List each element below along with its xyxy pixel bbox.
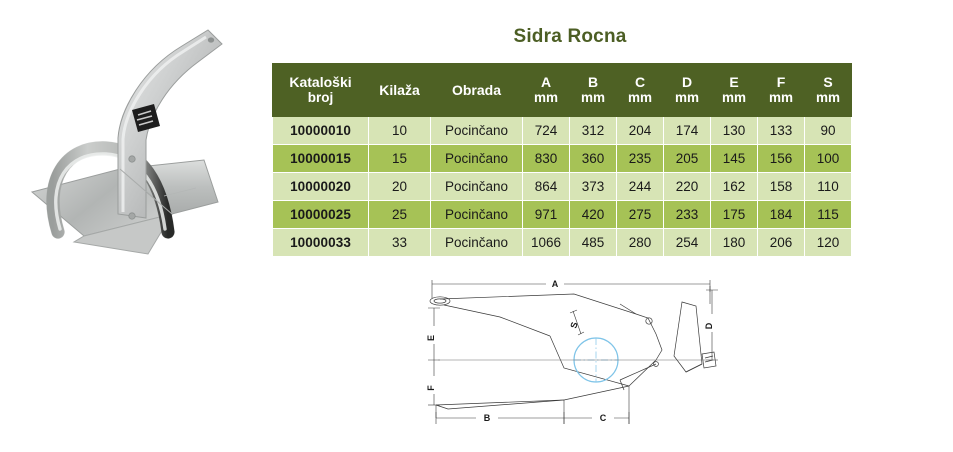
column-header-f-label: F: [759, 74, 803, 90]
cell-b: 485: [570, 229, 617, 257]
dim-label-b: B: [484, 413, 491, 423]
column-header-finish-label: Obrada: [432, 82, 521, 98]
product-photo: [22, 18, 270, 262]
cell-weight: 20: [369, 173, 431, 201]
table-row[interactable]: 10000020 20 Pocinčano 864 373 244 220 16…: [273, 173, 852, 201]
cell-s: 120: [805, 229, 852, 257]
cell-f: 184: [758, 201, 805, 229]
cell-a: 1066: [523, 229, 570, 257]
column-header-e-unit: mm: [712, 90, 756, 106]
cell-e: 175: [711, 201, 758, 229]
crown-hole: [646, 318, 652, 324]
spec-table-container: Kataloški broj Kilaža Obrada A mm B mm: [272, 63, 852, 257]
column-header-b: B mm: [570, 64, 617, 117]
column-header-b-label: B: [571, 74, 615, 90]
cell-a: 724: [523, 117, 570, 145]
column-header-catalog-line2: broj: [274, 90, 367, 106]
cell-d: 254: [664, 229, 711, 257]
table-row[interactable]: 10000010 10 Pocinčano 724 312 204 174 13…: [273, 117, 852, 145]
cell-weight: 15: [369, 145, 431, 173]
column-header-b-unit: mm: [571, 90, 615, 106]
dim-label-c: C: [600, 413, 607, 423]
shank-top-edge: [440, 294, 636, 314]
cell-finish: Pocinčano: [431, 229, 523, 257]
cell-s: 90: [805, 117, 852, 145]
fluke-edge-small: [620, 380, 624, 390]
cell-f: 206: [758, 229, 805, 257]
cell-c: 280: [617, 229, 664, 257]
column-header-d: D mm: [664, 64, 711, 117]
table-header: Kataloški broj Kilaža Obrada A mm B mm: [273, 64, 852, 117]
shackle-eye-outer: [430, 297, 450, 305]
cell-s: 100: [805, 145, 852, 173]
column-header-catalog: Kataloški broj: [273, 64, 369, 117]
cell-finish: Pocinčano: [431, 145, 523, 173]
cell-finish: Pocinčano: [431, 201, 523, 229]
shank-eye-hole: [208, 37, 214, 42]
cell-d: 220: [664, 173, 711, 201]
column-header-c: C mm: [617, 64, 664, 117]
cell-catalog: 10000010: [273, 117, 369, 145]
cell-b: 373: [570, 173, 617, 201]
cell-b: 420: [570, 201, 617, 229]
cell-d: 174: [664, 117, 711, 145]
dim-ext-a-legs: [432, 286, 710, 304]
cell-c: 235: [617, 145, 664, 173]
cell-weight: 33: [369, 229, 431, 257]
cell-a: 864: [523, 173, 570, 201]
page-title: Sidra Rocna: [430, 26, 710, 48]
column-header-s-label: S: [806, 74, 850, 90]
cell-a: 971: [523, 201, 570, 229]
dim-label-d: D: [704, 322, 714, 329]
cell-weight: 25: [369, 201, 431, 229]
dim-label-e: E: [426, 335, 436, 341]
cell-catalog: 10000015: [273, 145, 369, 173]
table-body: 10000010 10 Pocinčano 724 312 204 174 13…: [273, 117, 852, 257]
column-header-c-unit: mm: [618, 90, 662, 106]
cell-f: 133: [758, 117, 805, 145]
cell-e: 145: [711, 145, 758, 173]
rivet-upper: [129, 156, 135, 162]
cell-e: 180: [711, 229, 758, 257]
column-header-e: E mm: [711, 64, 758, 117]
dim-label-f: F: [426, 385, 436, 391]
dim-ext-a: [432, 280, 710, 292]
fluke-upper-edge: [550, 336, 629, 386]
cell-e: 130: [711, 117, 758, 145]
column-header-f-unit: mm: [759, 90, 803, 106]
crown-top-link: [620, 304, 636, 314]
column-header-c-label: C: [618, 74, 662, 90]
column-header-weight: Kilaža: [369, 64, 431, 117]
column-header-s-unit: mm: [806, 90, 850, 106]
cell-f: 158: [758, 173, 805, 201]
cell-d: 233: [664, 201, 711, 229]
crown-outline: [636, 314, 662, 360]
cell-finish: Pocinčano: [431, 117, 523, 145]
cell-c: 244: [617, 173, 664, 201]
rivet-lower: [129, 213, 135, 219]
cell-weight: 10: [369, 117, 431, 145]
cell-s: 110: [805, 173, 852, 201]
cell-d: 205: [664, 145, 711, 173]
cell-catalog: 10000025: [273, 201, 369, 229]
cell-e: 162: [711, 173, 758, 201]
roll-bar-foot: [686, 364, 702, 372]
column-header-catalog-line1: Kataloški: [274, 74, 367, 90]
column-header-a: A mm: [523, 64, 570, 117]
anchor-dimension-drawing: A B C D E F S: [424, 272, 724, 432]
roll-bar-arm: [674, 302, 702, 372]
shackle-eye-inner: [434, 299, 446, 303]
cell-b: 312: [570, 117, 617, 145]
table-row[interactable]: 10000015 15 Pocinčano 830 360 235 205 14…: [273, 145, 852, 173]
cell-a: 830: [523, 145, 570, 173]
column-header-d-label: D: [665, 74, 709, 90]
dim-label-a: A: [552, 279, 559, 289]
table-row[interactable]: 10000025 25 Pocinčano 971 420 275 233 17…: [273, 201, 852, 229]
cell-c: 275: [617, 201, 664, 229]
cell-s: 115: [805, 201, 852, 229]
cell-f: 156: [758, 145, 805, 173]
column-header-e-label: E: [712, 74, 756, 90]
table-header-row: Kataloški broj Kilaža Obrada A mm B mm: [273, 64, 852, 117]
cell-catalog: 10000033: [273, 229, 369, 257]
dim-ext-b-legs: [436, 400, 564, 424]
column-header-a-unit: mm: [524, 90, 568, 106]
column-header-finish: Obrada: [431, 64, 523, 117]
column-header-f: F mm: [758, 64, 805, 117]
column-header-s: S mm: [805, 64, 852, 117]
cell-b: 360: [570, 145, 617, 173]
shank-bottom-edge: [444, 305, 550, 336]
cell-catalog: 10000020: [273, 173, 369, 201]
column-header-d-unit: mm: [665, 90, 709, 106]
cell-finish: Pocinčano: [431, 173, 523, 201]
table-row[interactable]: 10000033 33 Pocinčano 1066 485 280 254 1…: [273, 229, 852, 257]
cell-c: 204: [617, 117, 664, 145]
dim-label-s: S: [568, 321, 579, 330]
anchor-spec-table: Kataloški broj Kilaža Obrada A mm B mm: [272, 63, 852, 257]
column-header-weight-label: Kilaža: [370, 82, 429, 98]
column-header-a-label: A: [524, 74, 568, 90]
fluke-to-crown: [629, 360, 656, 386]
